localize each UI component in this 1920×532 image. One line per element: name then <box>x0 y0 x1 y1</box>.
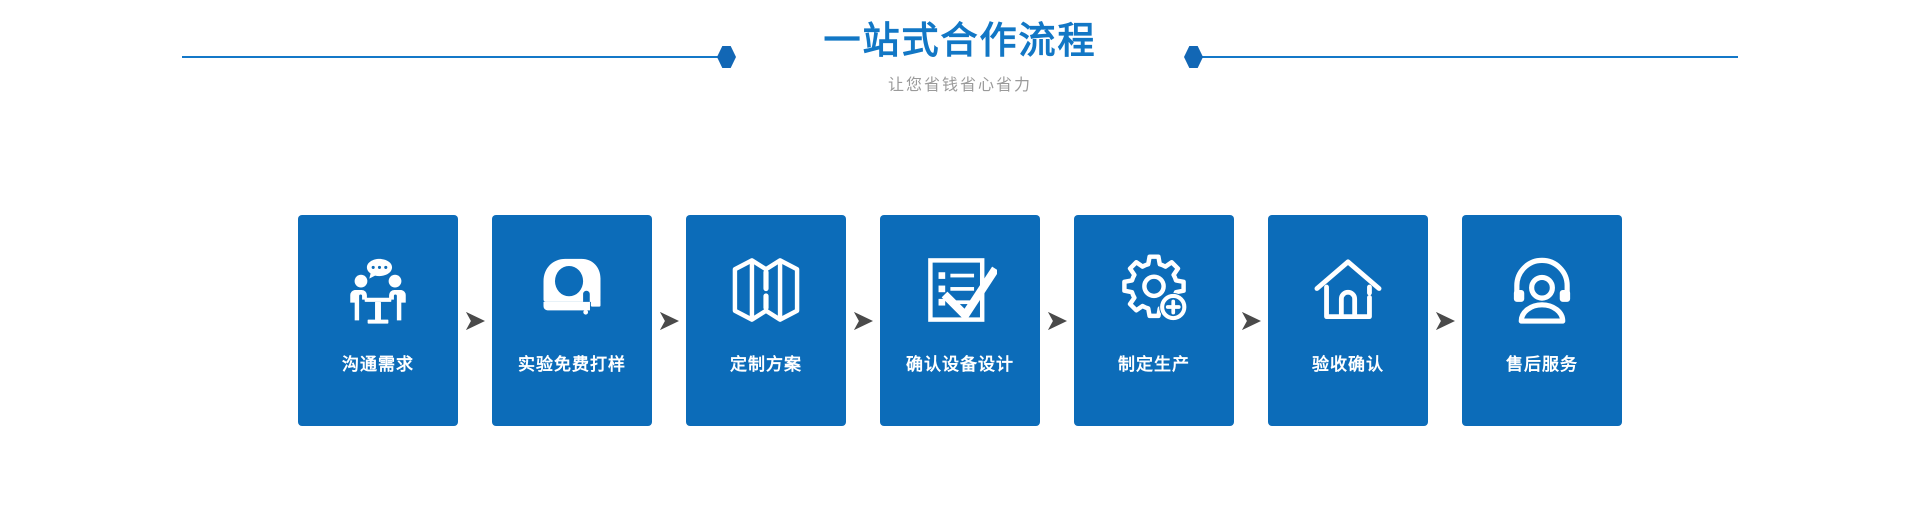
process-step-card[interactable]: 验收确认 <box>1268 215 1428 426</box>
process-step-label: 验收确认 <box>1312 353 1384 377</box>
process-step-label: 确认设备设计 <box>906 353 1014 377</box>
arrow-right-icon <box>1040 215 1074 426</box>
process-step-label: 实验免费打样 <box>518 353 626 377</box>
process-flow: 沟通需求 实验免费打样 定制方案 <box>0 215 1920 426</box>
header-title-block: 一站式合作流程 让您省钱省心省力 <box>0 18 1920 97</box>
arrow-right-icon <box>1234 215 1268 426</box>
arrow-right-icon <box>846 215 880 426</box>
process-step-card[interactable]: 售后服务 <box>1462 215 1622 426</box>
arrow-right-icon <box>458 215 492 426</box>
process-step-card[interactable]: 定制方案 <box>686 215 846 426</box>
people-talking-icon <box>341 253 415 327</box>
process-step-label: 售后服务 <box>1506 353 1578 377</box>
page-root: 一站式合作流程 让您省钱省心省力 沟通需求 实验免 <box>0 0 1920 532</box>
arrow-right-icon <box>652 215 686 426</box>
house-icon <box>1311 253 1385 327</box>
arrow-right-icon <box>1428 215 1462 426</box>
process-step-card[interactable]: 确认设备设计 <box>880 215 1040 426</box>
tape-measure-icon <box>535 253 609 327</box>
process-step-label: 定制方案 <box>730 353 802 377</box>
page-title: 一站式合作流程 <box>0 18 1920 64</box>
checklist-check-icon <box>923 253 997 327</box>
process-step-label: 沟通需求 <box>342 353 414 377</box>
page-subtitle: 让您省钱省心省力 <box>0 75 1920 97</box>
process-step-card[interactable]: 实验免费打样 <box>492 215 652 426</box>
process-step-card[interactable]: 沟通需求 <box>298 215 458 426</box>
headset-support-icon <box>1505 253 1579 327</box>
process-step-label: 制定生产 <box>1118 353 1190 377</box>
gear-plus-icon <box>1117 253 1191 327</box>
section-header: 一站式合作流程 让您省钱省心省力 <box>0 0 1920 120</box>
folded-map-icon <box>729 253 803 327</box>
process-step-card[interactable]: 制定生产 <box>1074 215 1234 426</box>
